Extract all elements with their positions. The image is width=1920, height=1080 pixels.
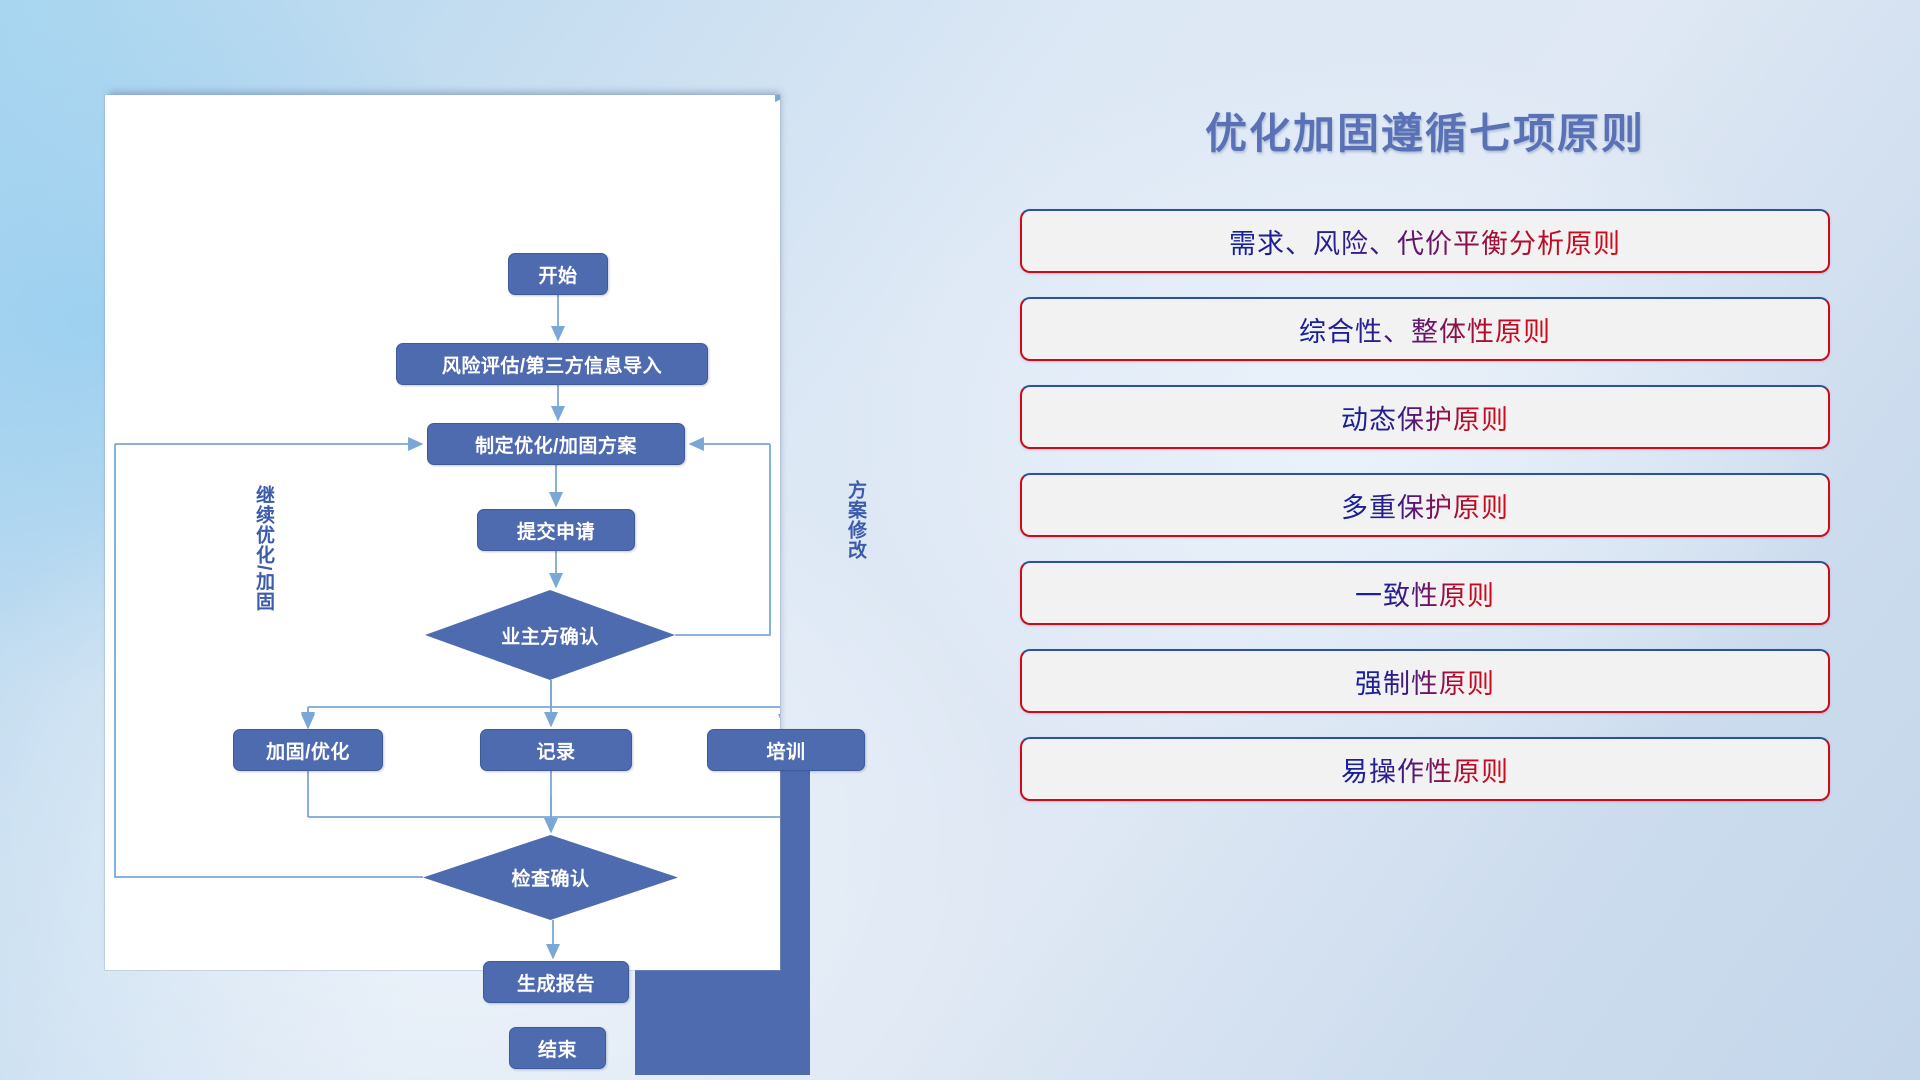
principle-label: 综合性、整体性原则: [1299, 310, 1551, 349]
flow-node-label: 提交申请: [517, 517, 595, 544]
flow-node-risk-assessment[interactable]: 风险评估/第三方信息导入: [396, 343, 708, 385]
principle-card-6[interactable]: 强制性原则: [1020, 649, 1830, 713]
flow-node-label: 检查确认: [511, 864, 589, 891]
flow-node-submit-application[interactable]: 提交申请: [477, 509, 635, 551]
principle-card-2[interactable]: 综合性、整体性原则: [1020, 297, 1830, 361]
flow-node-label: 加固/优化: [266, 737, 350, 764]
principle-label: 一致性原则: [1355, 574, 1495, 613]
flowchart-panel: 开始 风险评估/第三方信息导入 制定优化/加固方案 提交申请 业主方确认 加固/…: [105, 95, 780, 980]
flow-node-make-plan[interactable]: 制定优化/加固方案: [427, 423, 685, 465]
flow-node-label: 风险评估/第三方信息导入: [442, 351, 662, 378]
flow-node-training[interactable]: 培训: [707, 729, 865, 771]
flow-node-generate-report[interactable]: 生成报告: [483, 961, 629, 1003]
flow-node-record[interactable]: 记录: [480, 729, 632, 771]
flow-node-end[interactable]: 结束: [509, 1027, 606, 1069]
principles-panel: 优化加固遵循七项原则 需求、风险、代价平衡分析原则 综合性、整体性原则 动态保护…: [1020, 100, 1830, 825]
flow-node-label: 生成报告: [517, 969, 595, 996]
flow-node-label: 培训: [766, 737, 805, 764]
principle-label: 需求、风险、代价平衡分析原则: [1229, 222, 1621, 261]
principle-card-4[interactable]: 多重保护原则: [1020, 473, 1830, 537]
principle-card-1[interactable]: 需求、风险、代价平衡分析原则: [1020, 209, 1830, 273]
principle-label: 动态保护原则: [1341, 398, 1509, 437]
flow-node-start[interactable]: 开始: [508, 253, 608, 295]
principle-label: 强制性原则: [1355, 662, 1495, 701]
flow-node-label: 结束: [538, 1035, 577, 1062]
flow-node-label: 记录: [536, 737, 575, 764]
principle-card-3[interactable]: 动态保护原则: [1020, 385, 1830, 449]
flow-node-reinforce-optimize[interactable]: 加固/优化: [233, 729, 383, 771]
flow-node-label: 制定优化/加固方案: [475, 431, 637, 458]
flowchart-connectors: [105, 95, 780, 970]
principle-card-7[interactable]: 易操作性原则: [1020, 737, 1830, 801]
page-title: 优化加固遵循七项原则: [1020, 100, 1830, 161]
edge-label-continue-optimize: 继续优化/加固: [253, 485, 273, 611]
flowchart-card: 开始 风险评估/第三方信息导入 制定优化/加固方案 提交申请 业主方确认 加固/…: [105, 95, 780, 970]
edge-label-revise-plan: 方案修改: [845, 480, 865, 560]
flow-node-label: 业主方确认: [501, 622, 599, 649]
principle-label: 多重保护原则: [1341, 486, 1509, 525]
flow-node-label: 开始: [538, 261, 577, 288]
principle-label: 易操作性原则: [1341, 750, 1509, 789]
principle-card-5[interactable]: 一致性原则: [1020, 561, 1830, 625]
